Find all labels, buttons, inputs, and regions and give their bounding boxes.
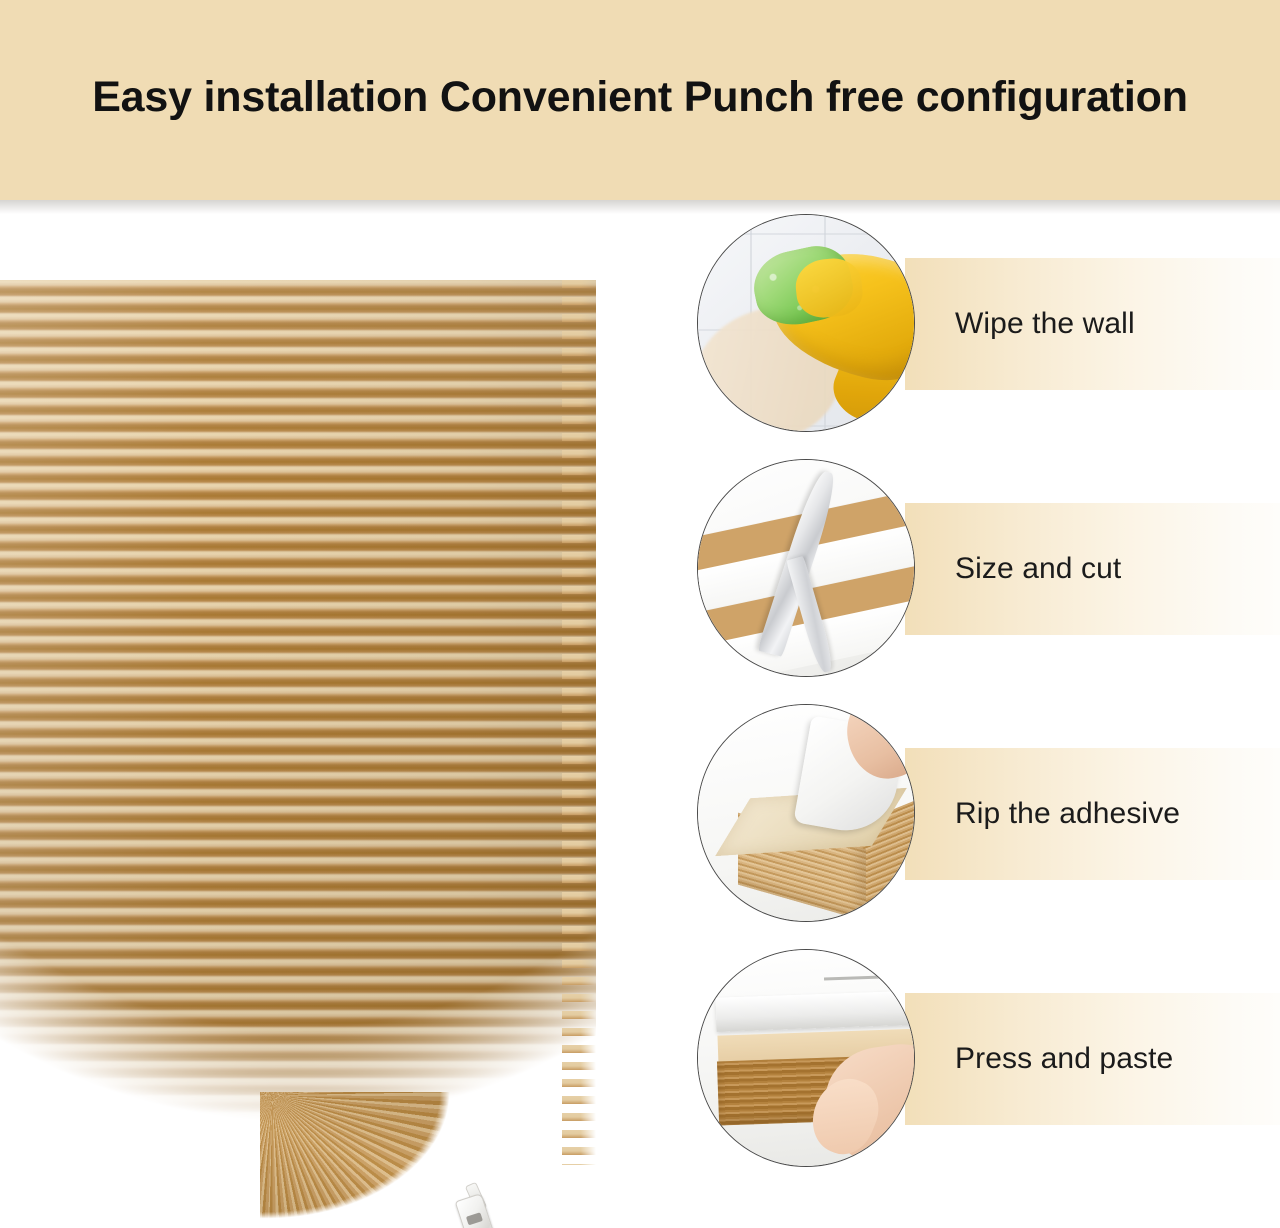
installation-steps-list: Wipe the wall Size and cut <box>680 214 1280 1228</box>
step-item-wipe-the-wall: Wipe the wall <box>680 214 1280 432</box>
banner-shadow-divider <box>0 200 1280 214</box>
step-label-text: Size and cut <box>955 503 1275 635</box>
peel-adhesive-icon <box>697 704 915 922</box>
step-item-press-and-paste: Press and paste <box>680 949 1280 1167</box>
window-frame-shape <box>715 990 915 1031</box>
blind-pleat-stack <box>0 280 596 1165</box>
blind-fan-fold <box>260 1092 468 1228</box>
product-photo <box>0 214 680 1228</box>
step-item-size-and-cut: Size and cut <box>680 459 1280 677</box>
blind-sawtooth-edge <box>562 280 596 1165</box>
step-photo-press <box>698 950 914 1166</box>
step-label-text: Wipe the wall <box>955 258 1275 390</box>
page-title: Easy installation Convenient Punch free … <box>92 76 1188 125</box>
step-photo-peel <box>698 705 914 921</box>
pleated-blind-illustration <box>0 280 604 1180</box>
step-label-text: Press and paste <box>955 993 1275 1125</box>
header-banner: Easy installation Convenient Punch free … <box>0 0 1280 200</box>
sponge-glove-icon <box>697 214 915 432</box>
step-photo-cut <box>698 460 914 676</box>
press-hand-icon <box>697 949 915 1167</box>
mounting-clip-icon <box>455 1193 498 1228</box>
scissors-blade-icon <box>697 459 915 677</box>
step-label-text: Rip the adhesive <box>955 748 1275 880</box>
step-photo-wipe <box>698 215 914 431</box>
step-item-rip-the-adhesive: Rip the adhesive <box>680 704 1280 922</box>
